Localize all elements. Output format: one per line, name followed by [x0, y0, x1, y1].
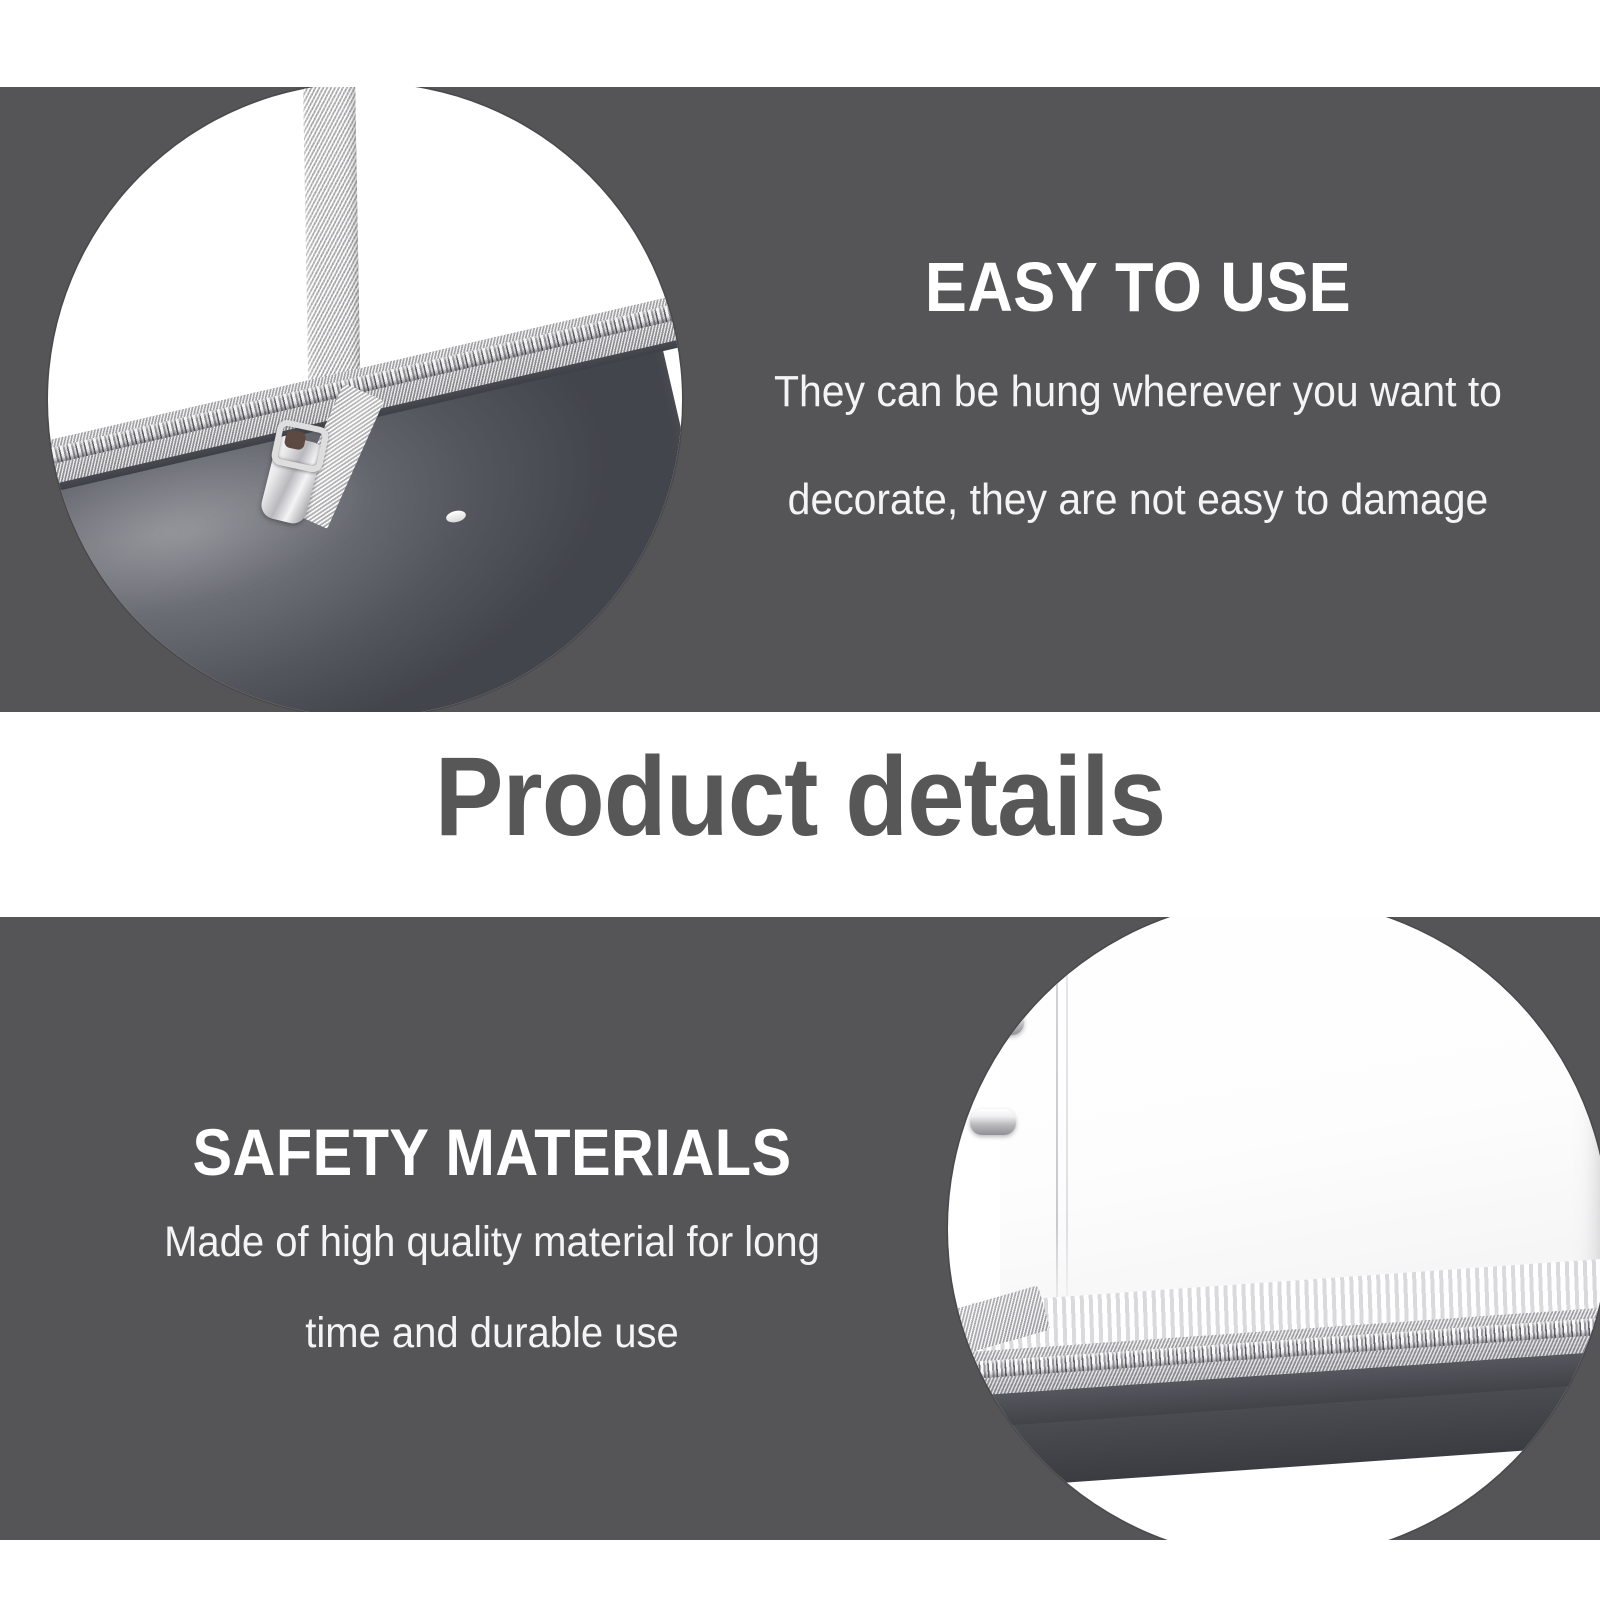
zipper-strap-closeup-photo — [48, 87, 682, 712]
page-crease-secondary — [1066, 917, 1068, 1329]
white-sleeve-pages-closeup-photo — [948, 917, 1600, 1540]
page-title: Product details — [64, 735, 1536, 858]
binder-ring-post-top — [978, 1009, 1024, 1035]
zipper-strap-scene — [48, 87, 682, 712]
sleeve-pages-scene — [948, 917, 1600, 1540]
binder-ring-post-bottom — [970, 1109, 1016, 1135]
feature-body-line-2-safety-materials: time and durable use — [120, 1297, 864, 1370]
feature-heading-safety-materials: SAFETY MATERIALS — [132, 1118, 852, 1188]
feature-copy-easy-to-use: EASY TO USE They can be hung wherever yo… — [738, 250, 1538, 540]
feature-body-line-2-easy-to-use: decorate, they are not easy to damage — [766, 460, 1510, 540]
feature-heading-easy-to-use: EASY TO USE — [778, 250, 1498, 324]
hanging-strap — [303, 87, 361, 418]
feature-body-line-1-easy-to-use: They can be hung wherever you want to — [766, 352, 1510, 432]
page-crease-primary — [1056, 917, 1058, 1329]
feature-body-line-1-safety-materials: Made of high quality material for long — [120, 1206, 864, 1279]
product-details-infographic: EASY TO USE They can be hung wherever yo… — [0, 0, 1600, 1600]
feature-copy-safety-materials: SAFETY MATERIALS Made of high quality ma… — [92, 1118, 892, 1370]
